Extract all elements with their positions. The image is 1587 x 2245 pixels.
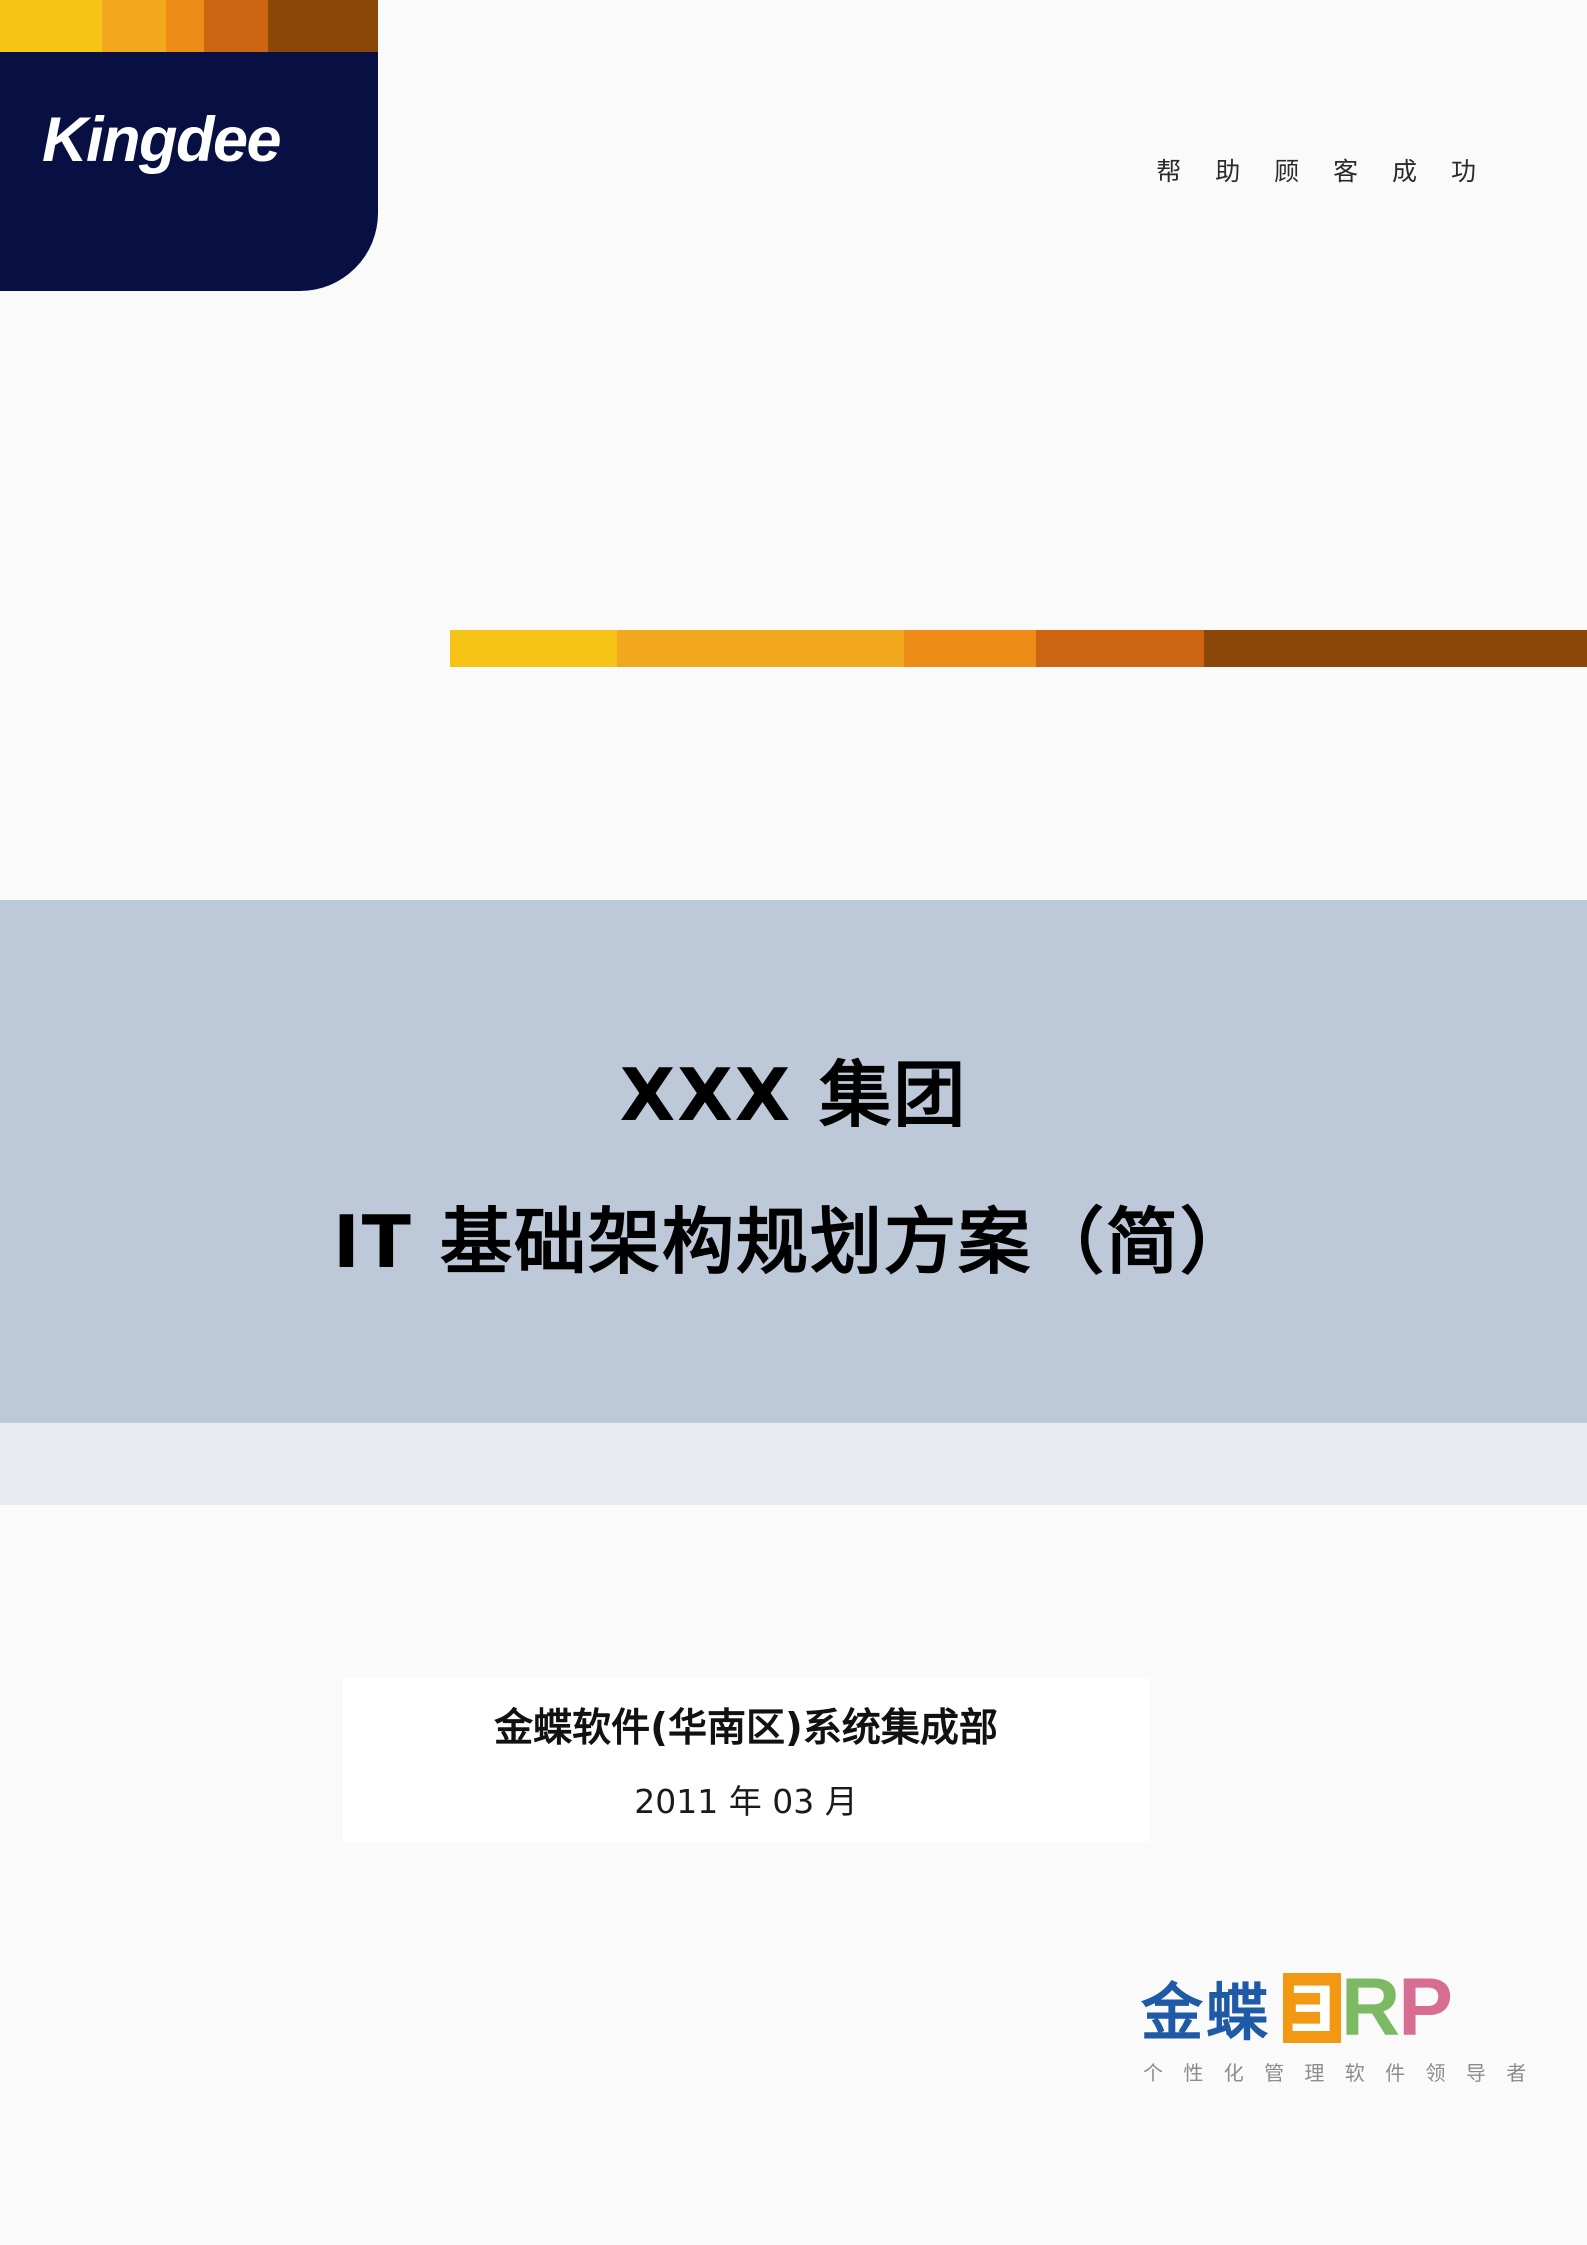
erp-logo-letter-r: R — [1341, 1973, 1398, 2043]
title-band-inner: XXX 集团 IT 基础架构规划方案（简） — [0, 900, 1587, 1423]
ribbon-segment-orange — [166, 0, 204, 53]
ribbon-segment-amber — [102, 0, 166, 53]
publisher-date: 2011 年 03 月 — [634, 1775, 857, 1823]
erp-logo-chinese-mark: 金蝶 — [1141, 1984, 1271, 2043]
ribbon-segment-brown — [268, 0, 378, 53]
mid-ribbon-segment-orange — [904, 630, 1036, 667]
ribbon-segment-yellow — [0, 0, 102, 53]
publisher-card: 金蝶软件(华南区)系统集成部 2011 年 03 月 — [343, 1678, 1149, 1842]
erp-logo-tagline: 个 性 化 管 理 软 件 领 导 者 — [1136, 2057, 1456, 2086]
top-color-ribbon — [0, 0, 378, 53]
publisher-organization: 金蝶软件(华南区)系统集成部 — [494, 1697, 998, 1753]
mid-ribbon-segment-yellow — [450, 630, 617, 667]
page-title-line-2: IT 基础架构规划方案（简） — [333, 1183, 1254, 1288]
erp-logo-main-row: 金蝶 E R P — [1136, 1965, 1456, 2043]
ribbon-segment-dark-orange — [204, 0, 268, 53]
corporate-slogan: 帮 助 顾 客 成 功 — [1156, 152, 1489, 188]
erp-logo-letter-e-glyph: E — [1283, 1973, 1341, 2043]
mid-ribbon-segment-amber — [617, 630, 904, 667]
document-cover-page: Kingdee 帮 助 顾 客 成 功 XXX 集团 IT 基础架构规划方案（简… — [0, 0, 1587, 2245]
mid-ribbon-segment-brown — [1204, 630, 1587, 667]
erp-logo-letter-p: P — [1398, 1973, 1451, 2043]
erp-logo-letters: E R P — [1283, 1973, 1451, 2043]
title-band: XXX 集团 IT 基础架构规划方案（简） — [0, 900, 1587, 1423]
kingdee-logo-wordmark: Kingdee — [42, 104, 280, 176]
title-band-accent-strip — [0, 1423, 1587, 1505]
kingdee-erp-logo: 金蝶 E R P 个 性 化 管 理 软 件 领 导 者 — [1136, 1965, 1456, 2086]
mid-color-ribbon — [450, 630, 1587, 667]
page-title-line-1: XXX 集团 — [620, 1036, 968, 1141]
erp-logo-letter-e-icon: E — [1283, 1973, 1341, 2043]
mid-ribbon-segment-dark-orange — [1036, 630, 1204, 667]
